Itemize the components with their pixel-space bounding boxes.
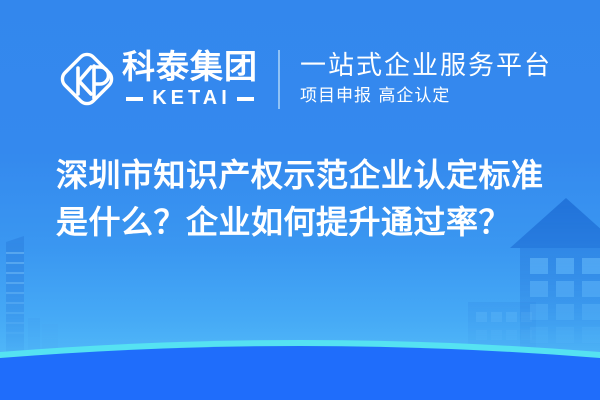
skyscraper-striped-icon: [6, 236, 24, 352]
tagline-block: 一站式企业服务平台 项目申报 高企认定: [300, 51, 552, 108]
logo-company-name-en: KETAI: [143, 88, 237, 109]
tagline-sub: 项目申报 高企认定: [300, 84, 552, 108]
headline-block: 深圳市知识产权示范企业认定标准 是什么？企业如何提升通过率？: [56, 152, 556, 246]
curved-ground-arc: [0, 340, 600, 400]
headline-line-1: 深圳市知识产权示范企业认定标准: [56, 152, 556, 199]
ketai-diamond-kp-logo-icon: [58, 48, 116, 110]
logo-dash-left-icon: [126, 97, 143, 101]
low-rise-cluster-icon: [28, 318, 58, 352]
logo-dash-right-icon: [237, 97, 254, 101]
logo-wordmark: 科泰集团 KETAI: [122, 49, 258, 109]
brand-divider: [278, 50, 280, 109]
tagline-main: 一站式企业服务平台: [300, 51, 552, 82]
logo-en-row: KETAI: [122, 88, 258, 109]
logo-company-name-cn: 科泰集团: [122, 49, 258, 85]
headline-line-2: 是什么？企业如何提升通过率？: [56, 199, 556, 246]
banner-root: 科泰集团 KETAI 一站式企业服务平台 项目申报 高企认定 深圳市知识产权示范…: [0, 0, 600, 400]
brand-header: 科泰集团 KETAI 一站式企业服务平台 项目申报 高企认定: [58, 40, 558, 118]
